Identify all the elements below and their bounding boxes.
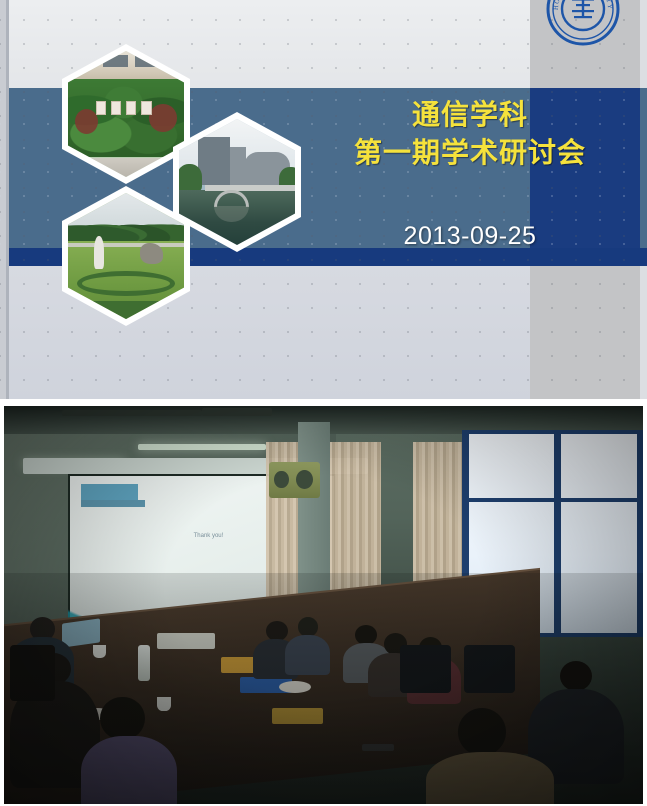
campus-bridge-artwork — [179, 119, 295, 245]
hex-photo-green-wall-image — [68, 51, 184, 177]
garden-sign — [141, 101, 151, 115]
tree-cluster — [179, 164, 202, 192]
screenshot-root: 通信学科 第一期学术研讨会 2013-09-25 HOHAI UNIVERS — [0, 0, 647, 806]
rockery — [140, 243, 163, 263]
white-statue — [94, 236, 104, 269]
slide-title-block: 通信学科 第一期学术研讨会 — [300, 96, 640, 172]
red-shrub — [149, 104, 177, 132]
park-statue-artwork — [68, 193, 184, 319]
garden-sign — [126, 101, 136, 115]
garden-sign — [111, 101, 121, 115]
seminar-room-photograph: Thank you! — [4, 406, 643, 804]
garden-path — [68, 243, 184, 247]
slide-left-stripe-inner — [6, 0, 9, 399]
hex-photo-park-statue-image — [68, 193, 184, 319]
hohai-university-seal-icon: HOHAI UNIVERSITY — [546, 0, 620, 46]
presentation-slide: 通信学科 第一期学术研讨会 2013-09-25 HOHAI UNIVERS — [0, 0, 647, 399]
photo-vignette — [4, 406, 643, 804]
bridge-deck — [205, 185, 295, 191]
building-window — [103, 55, 129, 68]
seminar-photo-frame: Thank you! — [0, 399, 647, 806]
hex-photo-campus-bridge-image — [179, 119, 295, 245]
garden-sign — [96, 101, 106, 115]
hedge-ring — [77, 271, 174, 296]
slide-title-line-1: 通信学科 — [300, 96, 640, 134]
campus-building — [198, 137, 230, 185]
green-wall-artwork — [68, 51, 184, 177]
slide-date: 2013-09-25 — [300, 222, 640, 251]
treeline — [68, 216, 184, 244]
slide-title-line-2: 第一期学术研讨会 — [300, 134, 640, 172]
